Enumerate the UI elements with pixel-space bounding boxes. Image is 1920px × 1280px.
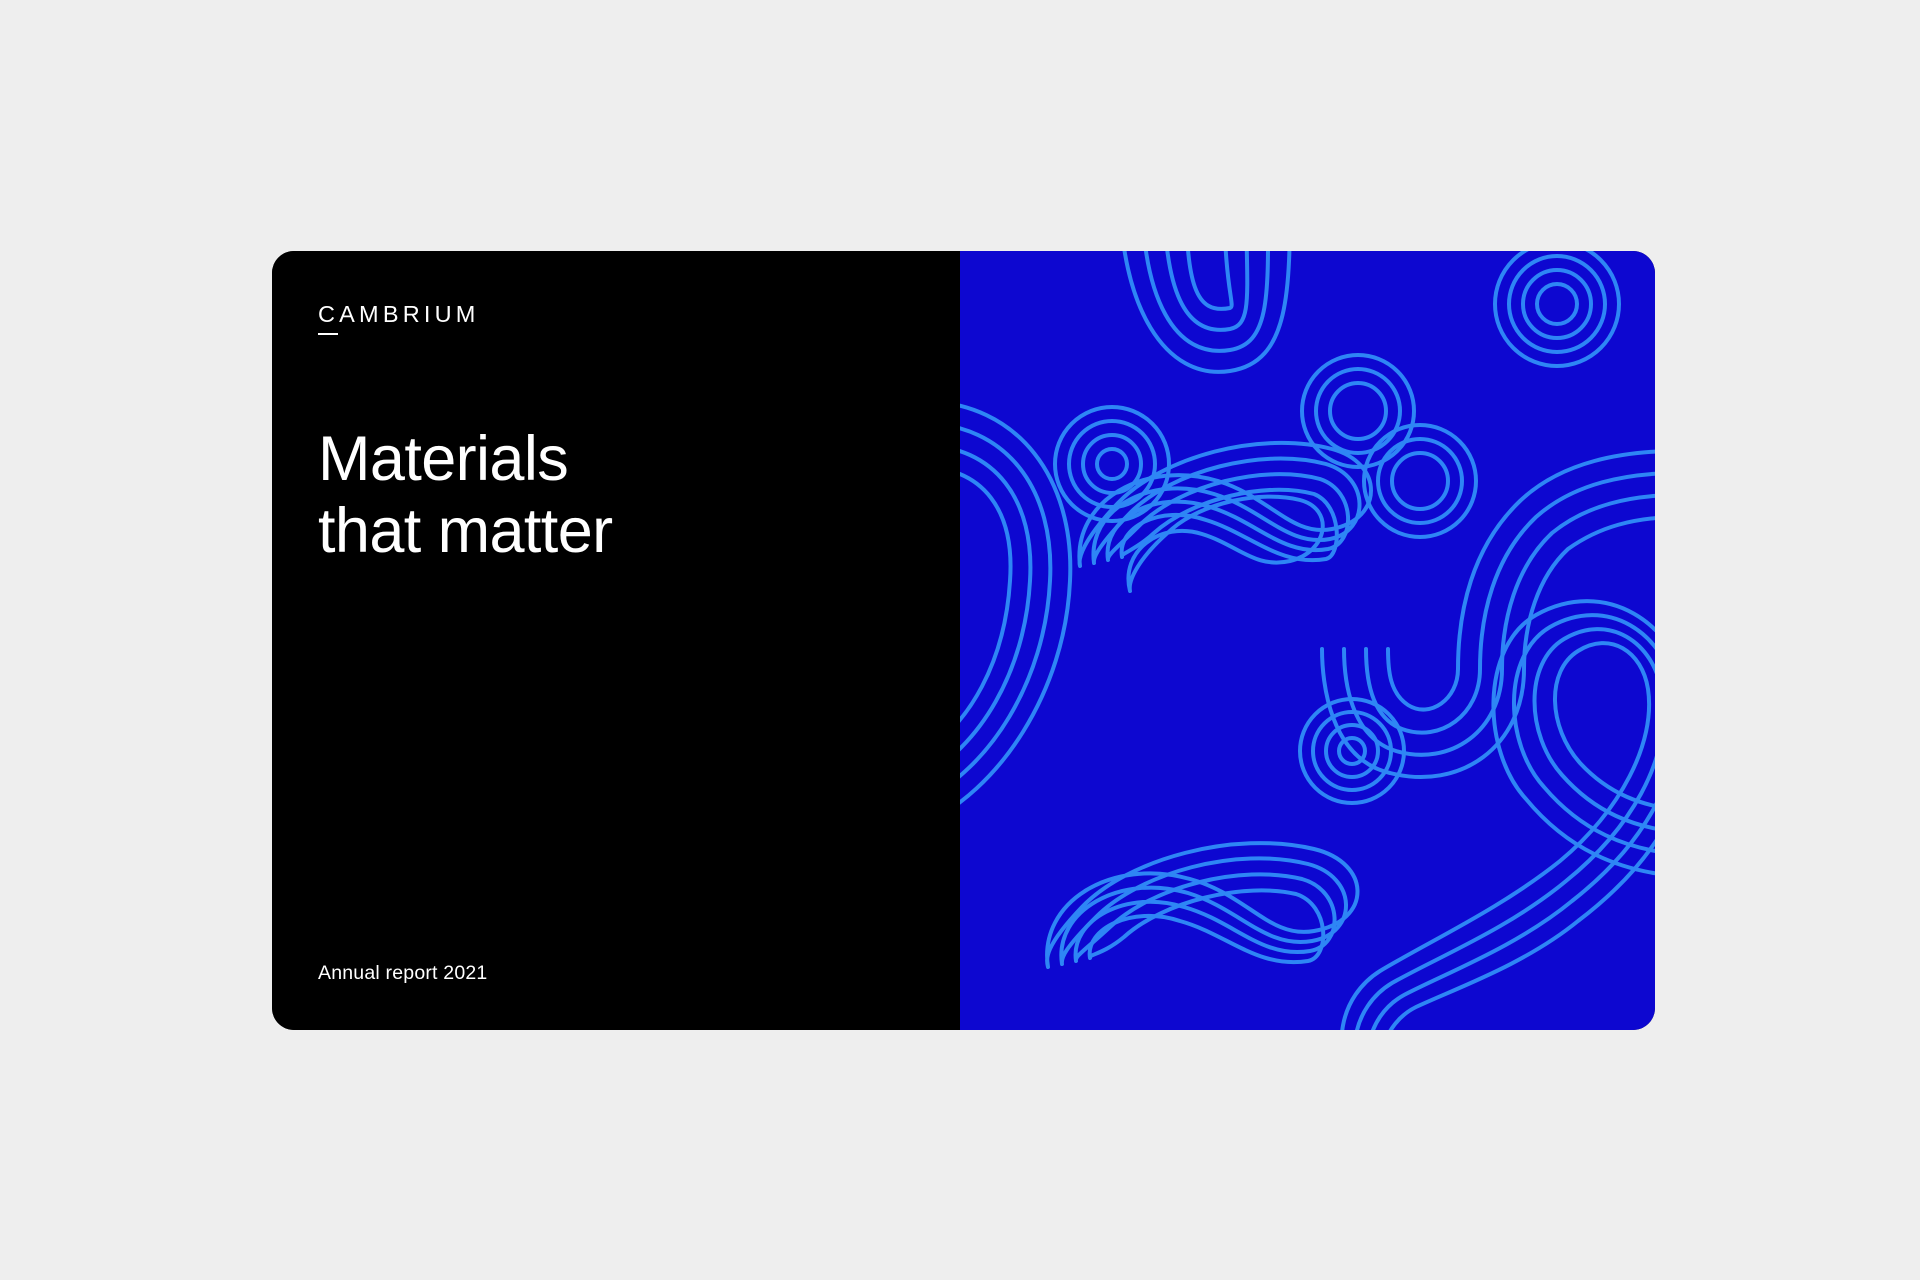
- page-title: Materials that matter: [318, 423, 613, 568]
- cover-left-panel: CAMBRIUM Materials that matter Annual re…: [272, 251, 960, 1030]
- report-cover-card: CAMBRIUM Materials that matter Annual re…: [272, 251, 1655, 1030]
- shape-arch-top-center: [1120, 251, 1290, 372]
- report-subtitle: Annual report 2021: [318, 964, 487, 984]
- shape-arch-right-edge: [1322, 451, 1655, 777]
- shape-circle-cluster-top-right: [1495, 251, 1619, 366]
- cover-right-panel: [960, 251, 1655, 1030]
- brand-underline-accent: [318, 333, 338, 335]
- brand-wordmark-text: CAMBRIUM: [318, 301, 480, 327]
- contour-pattern-graphic: [960, 251, 1655, 1030]
- shape-circle-pair-lower: [1364, 425, 1476, 537]
- shape-circle-pair-upper: [1302, 355, 1414, 467]
- brand-wordmark[interactable]: CAMBRIUM: [318, 303, 480, 327]
- page-canvas: CAMBRIUM Materials that matter Annual re…: [0, 0, 1920, 1280]
- shape-bean-bottom-left: [1047, 843, 1357, 967]
